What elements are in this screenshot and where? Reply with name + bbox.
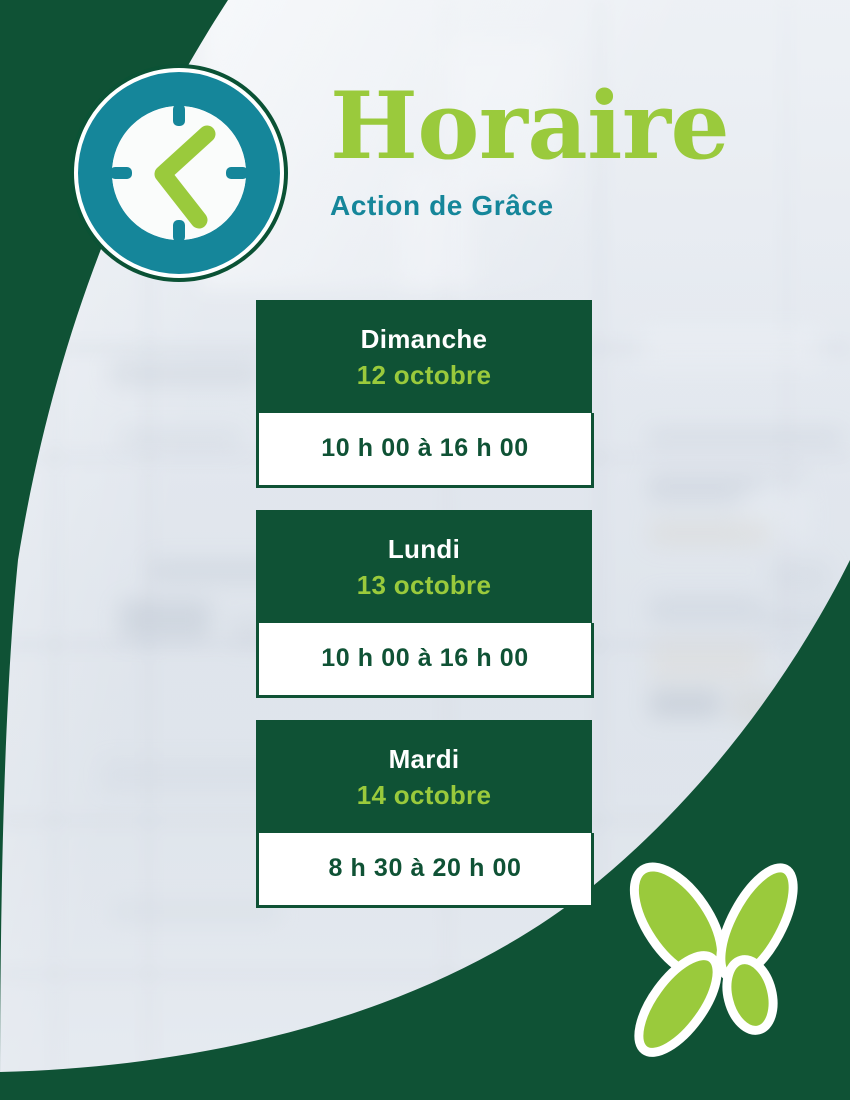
schedule-card-body: 8 h 30 à 20 h 00 bbox=[256, 833, 594, 908]
page-title: Horaire bbox=[330, 82, 790, 170]
schedule-card-body: 10 h 00 à 16 h 00 bbox=[256, 413, 594, 488]
schedule-day: Mardi bbox=[266, 744, 582, 775]
schedule-card-header: Dimanche 12 octobre bbox=[256, 300, 592, 413]
horaire-poster: Horaire Action de Grâce Dimanche 12 octo… bbox=[0, 0, 850, 1100]
schedule-card: Dimanche 12 octobre 10 h 00 à 16 h 00 bbox=[256, 300, 594, 488]
clock-icon bbox=[68, 62, 290, 284]
schedule-card: Mardi 14 octobre 8 h 30 à 20 h 00 bbox=[256, 720, 594, 908]
page-subtitle: Action de Grâce bbox=[330, 190, 790, 222]
schedule-card-header: Lundi 13 octobre bbox=[256, 510, 592, 623]
schedule-list: Dimanche 12 octobre 10 h 00 à 16 h 00 Lu… bbox=[256, 300, 594, 930]
schedule-date: 14 octobre bbox=[266, 779, 582, 813]
schedule-date: 13 octobre bbox=[266, 569, 582, 603]
schedule-hours: 8 h 30 à 20 h 00 bbox=[267, 854, 583, 883]
schedule-day: Lundi bbox=[266, 534, 582, 565]
schedule-card: Lundi 13 octobre 10 h 00 à 16 h 00 bbox=[256, 510, 594, 698]
schedule-date: 12 octobre bbox=[266, 359, 582, 393]
schedule-day: Dimanche bbox=[266, 324, 582, 355]
schedule-card-body: 10 h 00 à 16 h 00 bbox=[256, 623, 594, 698]
butterfly-flower-icon bbox=[616, 860, 826, 1060]
schedule-card-header: Mardi 14 octobre bbox=[256, 720, 592, 833]
schedule-hours: 10 h 00 à 16 h 00 bbox=[267, 434, 583, 463]
title-block: Horaire Action de Grâce bbox=[330, 82, 790, 222]
schedule-hours: 10 h 00 à 16 h 00 bbox=[267, 644, 583, 673]
